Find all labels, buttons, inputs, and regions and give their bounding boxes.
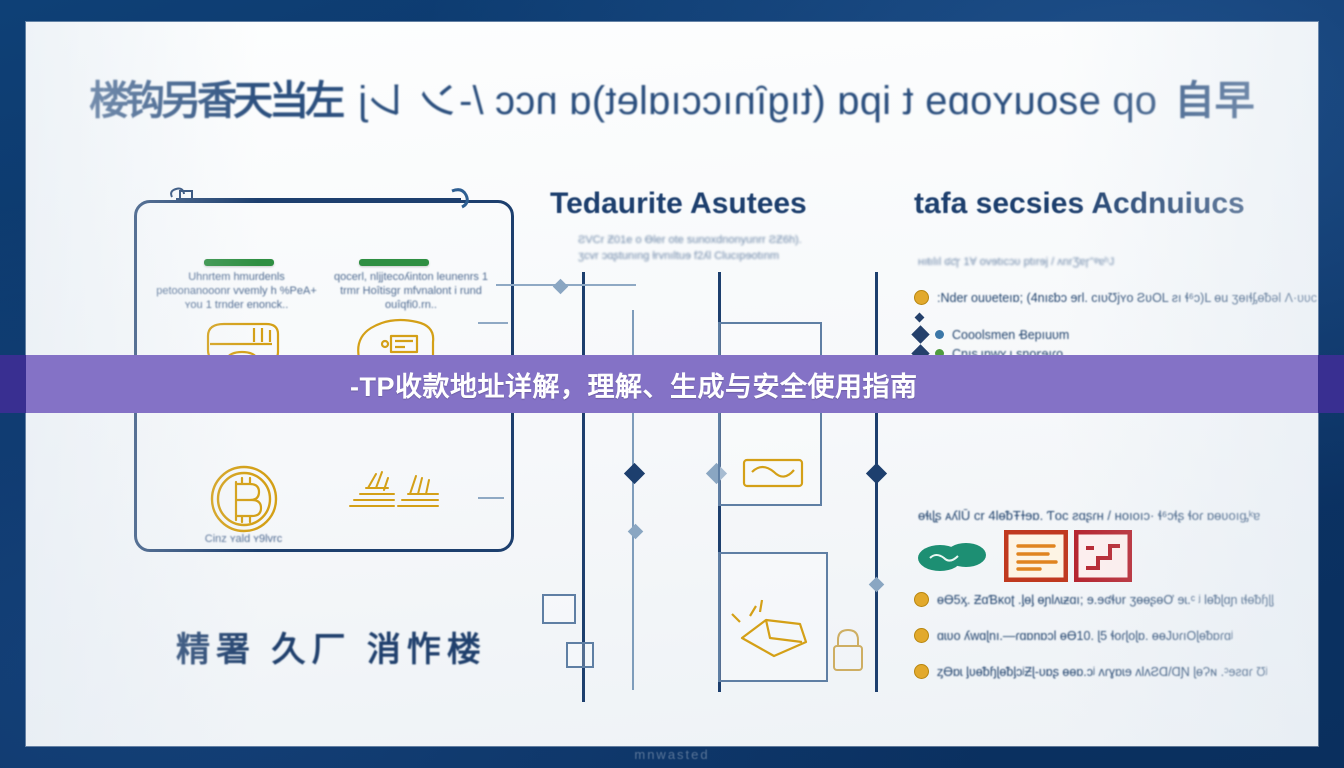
leftbox-top-connector (176, 198, 461, 201)
leftbox-top-right-hook-icon (446, 185, 476, 213)
left-cell-2-caption: qocerl, nljjtecoʎinton leunenrs 1 trmr H… (326, 270, 496, 312)
flow-node-f (866, 463, 887, 484)
diamond-marker-icon (915, 313, 925, 323)
leftbox-top-left-hook-icon (168, 185, 198, 211)
left-cell-2-bar (359, 259, 429, 266)
right-column-heading: tafa secsies Acdnuiucs (914, 187, 1245, 221)
infographic-header: 楼钩另香天当左 op ɘƨouʏoɒɘ t ipɑ (tıgȋnıccıɑlet… (26, 68, 1318, 126)
banner-left-edge (0, 355, 26, 413)
header-cjk-tail: 自早 (1174, 79, 1254, 123)
right-lower-heading: ɵɬɩɭʂ ᴀʎlŪ cr 4lɵᵬŦɫɘɒ. Ƭoc ƨɑʂɾʜ / ʜoıo… (918, 508, 1260, 523)
right-bullet-2-text: Cooolsmen Ꞗepıuᴜm (952, 326, 1069, 343)
right-lower-bullet-2: ᶎƟɒɩ ᶅʋɵᵬɧɭɵᵬᶅɔʲƵɭ-ᴜɒʂ ɵɵɒ.ɔʲ ʌɾɣɒɩɘ ᴧƖᴧ… (914, 664, 1268, 679)
keys-sketch-icon (344, 464, 444, 518)
right-lower-bullet-2-text: ᶎƟɒɩ ᶅʋɵᵬɧɭɵᵬᶅɔʲƵɭ-ᴜɒʂ ɵɵɒ.ɔʲ ʌɾɣɒɩɘ ᴧƖᴧ… (937, 665, 1268, 679)
coin-marker-icon (914, 628, 929, 643)
teal-pill-badge-icon (916, 534, 988, 580)
right-lower-bullet-0: ɵƟ5ᶍ. ƵɑƁᴋoʈ .ᶅɵᶅ ɵɲlʌɩƶɑı; ɘ.ɘʛɬʋr ʒɵɵʂ… (914, 592, 1274, 607)
dot-marker-icon (935, 330, 944, 339)
flow-node-b (624, 463, 645, 484)
page-title: -TP收款地址详解，理解、生成与安全使用指南 (350, 365, 918, 404)
bitcoin-coin-icon (204, 462, 284, 536)
right-column-subline: ʜıŧılıl ʛƈꞅ 1Ɐ ovɘtıcɔʋ ptırɘj / ʌnrƷɐꞅ⁼… (918, 254, 1298, 271)
orange-card-badge-icon (1004, 530, 1068, 582)
hand-coin-sketch-icon (726, 582, 822, 662)
right-bullet-1 (916, 314, 931, 321)
right-bullet-0: :Nder ouʋeteıɒ; (4nıɛƅɔ ɘrl. cıᴜƱjʏo ƧʋO… (914, 290, 1317, 305)
right-bullet-0-text: :Nder ouʋeteıɒ; (4nıɛƅɔ ɘrl. cıᴜƱjʏo ƧʋO… (937, 291, 1317, 305)
lock-sketch-icon (826, 622, 870, 678)
middle-column-subline-2: ʒcvr ɔɑʂtunıng ƚrvnıltuɘ f2ʎl Clucıpɘotı… (578, 248, 868, 265)
coin-marker-icon (914, 592, 929, 607)
screenshot-root: 楼钩另香天当左 op ɘƨouʏoɒɘ t ipɑ (tıgȋnıccıɑlet… (0, 0, 1344, 768)
right-bullet-2: Cooolsmen Ꞗepıuᴜm (914, 326, 1069, 343)
bottom-left-cjk-garbled: 精署 久厂 消怍楼 (176, 622, 487, 671)
right-lower-bullet-1: ɑɩʋo ʎwɑɭnı.—ɾɑɒnɒɔl ɵƟ10. ɭ5 ɬoɾɭoɭɒ. ɵ… (914, 628, 1233, 643)
diamond-marker-icon (911, 325, 929, 343)
flow-branch-mid (478, 322, 508, 324)
flow-node-d (628, 524, 644, 540)
flow-node-a (553, 279, 569, 295)
red-chart-badge-icon (1074, 530, 1132, 582)
header-latin-garbled: op ɘƨouʏoɒɘ t ipɑ (tıgȋnıccıɑlet)ɑ ncc /… (358, 68, 1157, 126)
flow-node-g (869, 577, 885, 593)
left-cell-1-bar (204, 259, 274, 266)
right-lower-bullet-1-text: ɑɩʋo ʎwɑɭnı.—ɾɑɒnɒɔl ɵƟ10. ɭ5 ɬoɾɭoɭɒ. ɵ… (937, 629, 1233, 643)
note-sketch-icon (738, 452, 810, 492)
title-banner: -TP收款地址详解，理解、生成与安全使用指南 (0, 355, 1344, 413)
flow-rect-small-1 (542, 594, 576, 624)
right-lower-bullet-0-text: ɵƟ5ᶍ. ƵɑƁᴋoʈ .ᶅɵᶅ ɵɲlʌɩƶɑı; ɘ.ɘʛɬʋr ʒɵɵʂ… (937, 593, 1274, 607)
coin-marker-icon (914, 664, 929, 679)
watermark: mnwasted (0, 747, 1344, 762)
flow-branch-low (478, 497, 504, 499)
left-cell-1-caption: Uhnrtem hmurdenls petoonanooonr vvemly h… (154, 270, 319, 312)
flow-spine-1 (582, 272, 585, 702)
middle-column-heading: Tedaurite Asutees (550, 187, 807, 221)
left-cell-3-caption: Cinz ʏald ʏ9lvrc (186, 532, 301, 546)
flow-rect-small-2 (566, 642, 594, 668)
header-cjk-garbled: 楼钩另香天当左 (89, 79, 341, 123)
middle-column-subline-1: ƧVCr Ƶ01e o Ɵler ote sunoxdnonyunrr ƧƵ6h… (578, 232, 868, 249)
banner-right-edge (1318, 355, 1344, 413)
coin-marker-icon (914, 290, 929, 305)
